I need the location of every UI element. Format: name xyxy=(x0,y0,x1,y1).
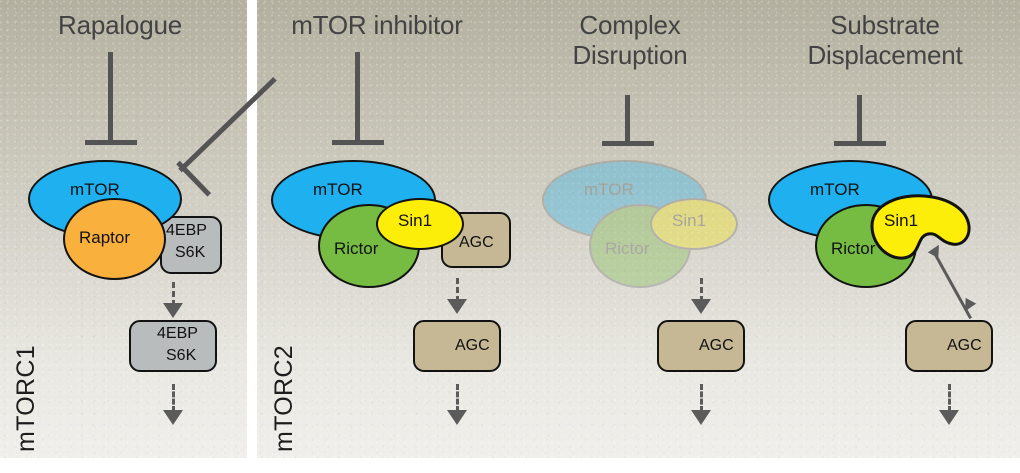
protein-sin1 xyxy=(650,198,738,250)
protein-sin1 xyxy=(376,198,464,250)
panel-title-substrate-displacement: Substrate Displacement xyxy=(765,10,1005,70)
signal-arrow-head-2 xyxy=(447,410,467,425)
tbar-stem xyxy=(857,95,862,145)
bottom-margin xyxy=(0,458,1020,473)
panel-title-complex-disruption: Complex Disruption xyxy=(520,10,740,70)
panel-title-mtor-inhibitor: mTOR inhibitor xyxy=(262,10,492,40)
complex-label-mtorc1: mTORC1 xyxy=(12,345,41,452)
tbar-stem xyxy=(108,52,113,144)
complex-label-mtorc2: mTORC2 xyxy=(270,345,299,452)
tbar-cap xyxy=(332,140,384,145)
signal-arrow-head-1 xyxy=(163,410,183,425)
substrate-docked-4ebp-s6k xyxy=(160,216,222,274)
tbar-stem xyxy=(355,52,360,144)
protein-sin1-crescent xyxy=(866,192,974,264)
signal-arrow-shaft-4 xyxy=(948,384,951,412)
release-arrow-head-3 xyxy=(691,299,711,314)
signal-arrow-head-3 xyxy=(691,410,711,425)
tbar-cap xyxy=(602,141,654,146)
figure-root: Rapalogue mTOR inhibitor Complex Disrupt… xyxy=(0,0,1020,473)
tbar-stem xyxy=(625,95,630,145)
substrate-released-agc xyxy=(413,320,501,372)
release-arrow-head-2 xyxy=(447,299,467,314)
protein-raptor xyxy=(63,198,166,280)
signal-arrow-shaft-3 xyxy=(700,384,703,412)
tbar-cap xyxy=(85,140,137,145)
tbar-cap xyxy=(834,141,886,146)
substrate-released-agc xyxy=(905,320,993,372)
signal-arrow-shaft-2 xyxy=(456,384,459,412)
substrate-released-4ebp-s6k xyxy=(129,320,217,372)
release-arrow-head-1 xyxy=(163,303,183,318)
panel-title-rapalogue: Rapalogue xyxy=(10,10,230,40)
signal-arrow-head-4 xyxy=(939,410,959,425)
substrate-released-agc xyxy=(657,320,745,372)
signal-arrow-shaft-1 xyxy=(172,384,175,412)
